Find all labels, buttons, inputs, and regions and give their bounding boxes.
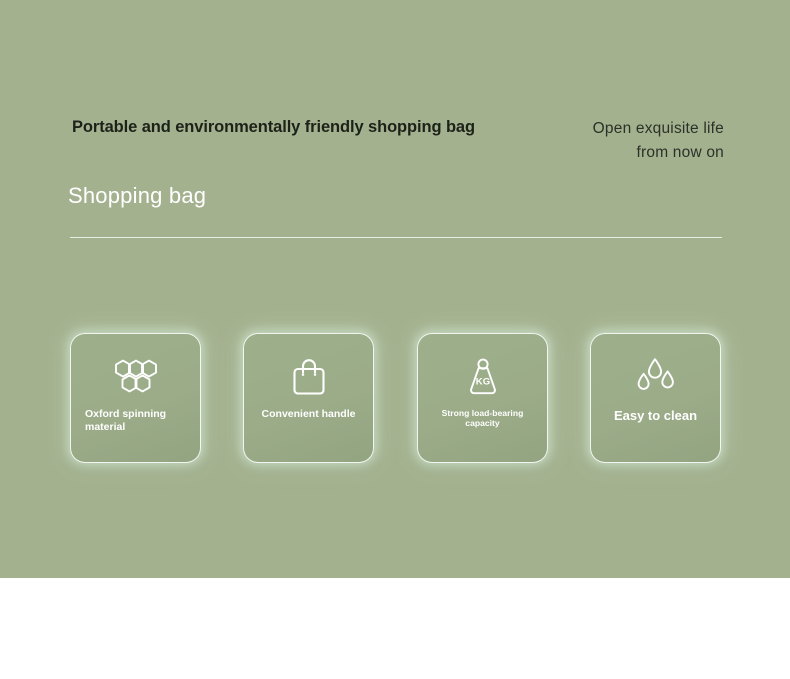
feature-card-label: Convenient handle [254, 408, 363, 421]
kg-icon-text: KG [475, 376, 489, 387]
feature-card-load-bearing[interactable]: KG Strong load-bearing capacity [417, 333, 548, 463]
feature-card-convenient-handle[interactable]: Convenient handle [243, 333, 374, 463]
page-title: Portable and environmentally friendly sh… [72, 117, 532, 138]
tagline-line-2: from now on [464, 141, 724, 165]
feature-card-label: Easy to clean [601, 408, 710, 424]
kg-weight-icon: KG [418, 353, 547, 401]
tagline: Open exquisite life from now on [464, 117, 724, 164]
product-subtitle: Shopping bag [68, 183, 206, 209]
product-banner: Portable and environmentally friendly sh… [0, 0, 790, 578]
tagline-line-1: Open exquisite life [464, 117, 724, 141]
water-drops-icon [591, 353, 720, 401]
feature-card-oxford-material[interactable]: Oxford spinning material [70, 333, 201, 463]
feature-card-list: Oxford spinning material Convenient hand… [70, 333, 730, 463]
feature-card-easy-to-clean[interactable]: Easy to clean [590, 333, 721, 463]
feature-card-label: Oxford spinning material [85, 408, 190, 433]
feature-card-label: Strong load-bearing capacity [428, 408, 537, 428]
horizontal-divider [70, 237, 722, 238]
shopping-bag-icon [244, 353, 373, 401]
honeycomb-icon [71, 353, 200, 401]
